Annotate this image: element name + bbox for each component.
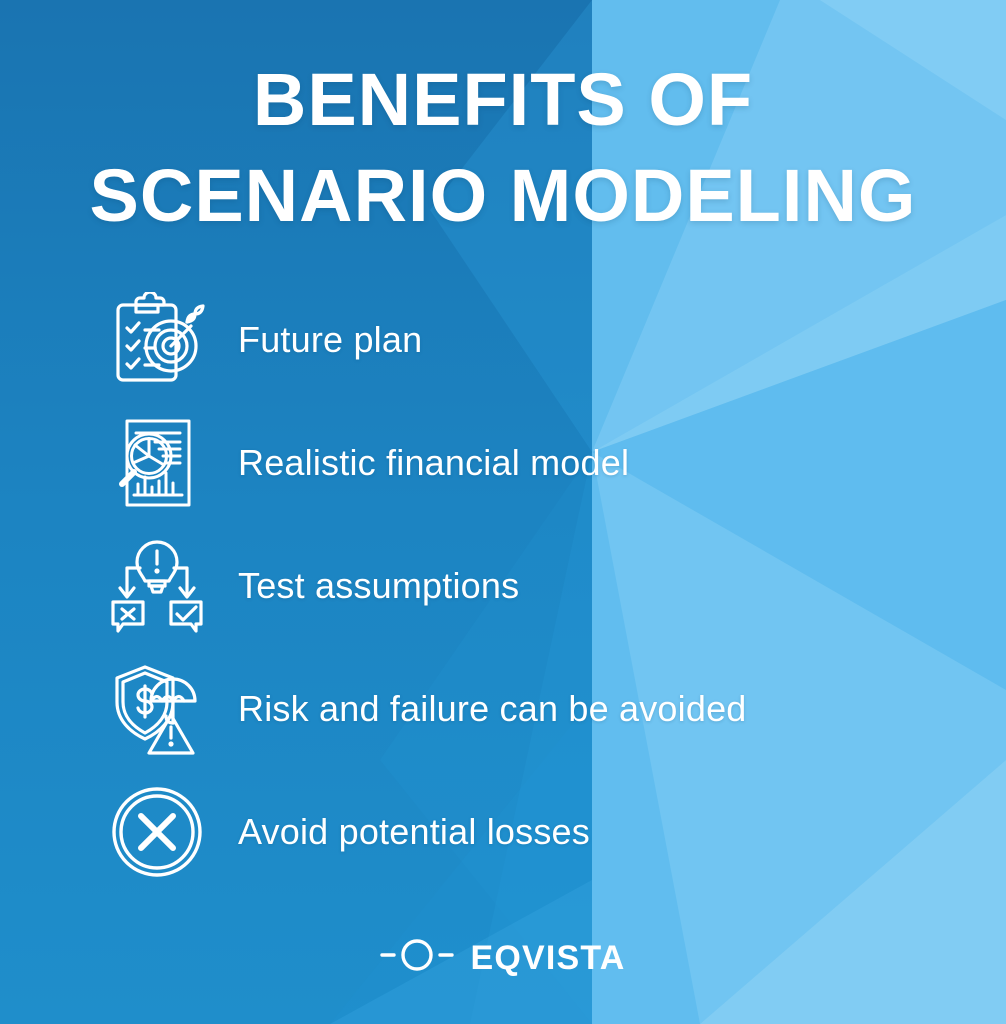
title-line-2: SCENARIO MODELING <box>0 148 1006 244</box>
circle-cross-icon <box>104 779 210 885</box>
clipboard-target-icon <box>104 287 210 393</box>
benefit-label: Future plan <box>238 319 422 361</box>
benefits-list: Future plan <box>104 278 964 893</box>
poster-title: BENEFITS OF SCENARIO MODELING <box>0 52 1006 244</box>
title-line-1: BENEFITS OF <box>0 52 1006 148</box>
benefit-label: Realistic financial model <box>238 442 629 484</box>
brand-name: EQVISTA <box>470 941 625 975</box>
benefit-item: Future plan <box>104 278 964 401</box>
dash-circle-dash-icon <box>380 938 454 977</box>
benefit-item: Test assumptions <box>104 524 964 647</box>
benefit-item: Realistic financial model <box>104 401 964 524</box>
document-chart-magnifier-icon <box>104 410 210 516</box>
benefit-item: Risk and failure can be avoided <box>104 647 964 770</box>
shield-umbrella-warning-icon <box>104 656 210 762</box>
benefit-label: Risk and failure can be avoided <box>238 688 747 730</box>
infographic-poster: BENEFITS OF SCENARIO MODELING <box>0 0 1006 1024</box>
brand-logo: EQVISTA <box>0 938 1006 977</box>
lightbulb-branching-decision-icon <box>104 533 210 639</box>
benefit-item: Avoid potential losses <box>104 770 964 893</box>
benefit-label: Avoid potential losses <box>238 811 590 853</box>
benefit-label: Test assumptions <box>238 565 519 607</box>
